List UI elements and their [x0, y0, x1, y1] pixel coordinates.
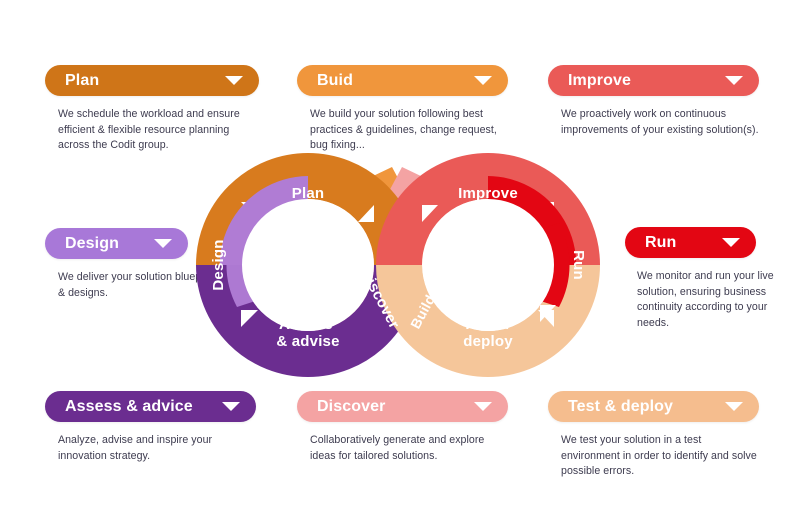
card-run: Run We monitor and run your live solutio…: [625, 227, 756, 332]
chevron-down-icon[interactable]: [474, 402, 492, 411]
pill-improve[interactable]: Improve: [548, 65, 759, 96]
pill-build-label: Buid: [317, 73, 353, 89]
card-plan: Plan We schedule the workload and ensure…: [45, 65, 259, 154]
left-loop-hole: [242, 199, 374, 331]
pill-design-label: Design: [65, 236, 119, 252]
pill-run[interactable]: Run: [625, 227, 756, 258]
pill-design[interactable]: Design: [45, 228, 188, 259]
loop-label-assess: Assess & advise: [276, 316, 339, 350]
card-build-description: We build your solution following best pr…: [297, 107, 508, 154]
card-discover-description: Collaboratively generate and explore ide…: [297, 433, 508, 464]
card-design: Design We deliver your solution blueprin…: [45, 228, 188, 301]
pill-discover[interactable]: Discover: [297, 391, 508, 422]
loop-label-test-deploy-line1: Test &: [463, 316, 509, 333]
chevron-down-icon[interactable]: [474, 76, 492, 85]
card-improve-description: We proactively work on continuous improv…: [548, 107, 759, 138]
chevron-down-icon[interactable]: [722, 238, 740, 247]
pill-plan-label: Plan: [65, 73, 99, 89]
card-test-deploy: Test & deploy We test your solution in a…: [548, 391, 759, 480]
pill-test-deploy[interactable]: Test & deploy: [548, 391, 759, 422]
pill-plan[interactable]: Plan: [45, 65, 259, 96]
infinity-loop-diagram: Plan Improve Design Run Discover Build A…: [196, 153, 600, 377]
card-assess-description: Analyze, advise and inspire your innovat…: [45, 433, 256, 464]
card-design-description: We deliver your solution blueprint & des…: [45, 270, 218, 301]
loop-label-plan: Plan: [292, 185, 324, 202]
pill-assess-label: Assess & advice: [65, 399, 193, 415]
loop-label-assess-line1: Assess: [279, 316, 333, 333]
right-loop-hole: [422, 199, 554, 331]
card-build: Buid We build your solution following be…: [297, 65, 508, 154]
loop-label-test-deploy-line2: deploy: [463, 333, 513, 350]
pill-discover-label: Discover: [317, 399, 385, 415]
card-test-deploy-description: We test your solution in a test environm…: [548, 433, 759, 480]
pill-improve-label: Improve: [568, 73, 631, 89]
loop-label-assess-line2: & advise: [276, 333, 339, 350]
loop-label-design: Design: [210, 239, 227, 290]
chevron-down-icon[interactable]: [725, 76, 743, 85]
chevron-down-icon[interactable]: [154, 239, 172, 248]
pill-build[interactable]: Buid: [297, 65, 508, 96]
chevron-down-icon[interactable]: [225, 76, 243, 85]
card-assess: Assess & advice Analyze, advise and insp…: [45, 391, 256, 464]
card-plan-description: We schedule the workload and ensure effi…: [45, 107, 259, 154]
loop-label-run: Run: [570, 250, 587, 280]
card-run-description: We monitor and run your live solution, e…: [625, 269, 777, 332]
chevron-down-icon[interactable]: [725, 402, 743, 411]
card-improve: Improve We proactively work on continuou…: [548, 65, 759, 138]
pill-run-label: Run: [645, 235, 676, 251]
chevron-down-icon[interactable]: [222, 402, 240, 411]
pill-assess[interactable]: Assess & advice: [45, 391, 256, 422]
loop-label-improve: Improve: [458, 185, 518, 202]
loop-label-test-deploy: Test & deploy: [463, 316, 513, 350]
card-discover: Discover Collaboratively generate and ex…: [297, 391, 508, 464]
pill-test-deploy-label: Test & deploy: [568, 399, 673, 415]
infographic-canvas: Plan We schedule the workload and ensure…: [0, 0, 795, 530]
